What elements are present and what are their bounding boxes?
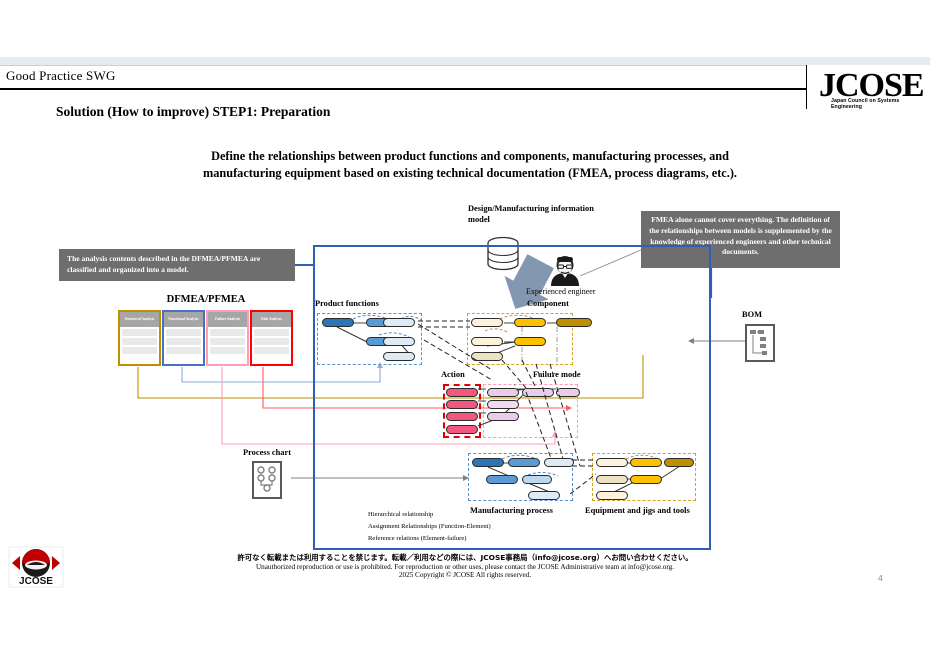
dfmea-card-list: Structural Analysis Functional Analysis … (118, 310, 294, 366)
dfmea-card-rows (252, 327, 291, 357)
equipment-node[interactable] (630, 475, 662, 484)
process-chart-icon[interactable] (252, 461, 282, 499)
process-equipment-links (570, 452, 610, 502)
footer-notice-en: Unauthorized reproduction or use is proh… (0, 563, 930, 571)
dfmea-card-rows (164, 327, 203, 357)
legend-label: Assignment Relationships (Function-Eleme… (368, 521, 491, 534)
process-node[interactable] (472, 458, 504, 467)
footer: 許可なく転載または利用することを禁じます。転載／利用などの際には、JCOSE事務… (0, 552, 930, 579)
dfmea-card-rows (208, 327, 247, 357)
process-node[interactable] (528, 491, 560, 500)
process-node[interactable] (522, 475, 552, 484)
dfmea-card-functional[interactable]: Functional Analysis (162, 310, 205, 366)
legend-label: Hierarchical relationship (368, 509, 433, 522)
legend-label: Reference relations (Element-failure) (368, 533, 467, 546)
page-number: 4 (878, 573, 883, 583)
process-node[interactable] (486, 475, 518, 484)
dfmea-card-risk-label: Risk Analysis (252, 312, 291, 327)
component-label: Component (527, 299, 569, 308)
dfmea-title: DFMEA/PFMEA (120, 294, 292, 305)
dfmea-card-failure[interactable]: Failure Analysis (206, 310, 249, 366)
slide-canvas: Good Practice SWG JCOSE Japan Council on… (0, 0, 930, 658)
footer-copyright: 2025 Copyright © JCOSE All rights reserv… (0, 571, 930, 579)
bom-document-icon[interactable] (745, 324, 775, 362)
dfmea-card-rows (120, 327, 159, 357)
dfmea-card-structural-label: Structural Analysis (120, 312, 159, 327)
process-chart-label: Process chart (243, 448, 291, 457)
dfmea-card-failure-label: Failure Analysis (208, 312, 247, 327)
dfmea-card-risk[interactable]: Risk Analysis (250, 310, 293, 366)
process-node[interactable] (508, 458, 540, 467)
dfmea-card-functional-label: Functional Analysis (164, 312, 203, 327)
equipment-node[interactable] (630, 458, 662, 467)
callout-left: The analysis contents described in the D… (59, 249, 295, 281)
equipment-label: Equipment and jigs and tools (585, 506, 690, 515)
action-label: Action (441, 370, 465, 379)
function-node[interactable] (322, 318, 354, 327)
footer-notice-jp: 許可なく転載または利用することを禁じます。転載／利用などの際には、JCOSE事務… (0, 552, 930, 563)
bom-label: BOM (742, 310, 762, 319)
information-model-label: Design/Manufacturing information model (468, 204, 608, 226)
dfmea-card-structural[interactable]: Structural Analysis (118, 310, 161, 366)
product-functions-label: Product functions (315, 299, 379, 308)
equipment-node[interactable] (664, 458, 694, 467)
manufacturing-process-label: Manufacturing process (470, 506, 553, 515)
